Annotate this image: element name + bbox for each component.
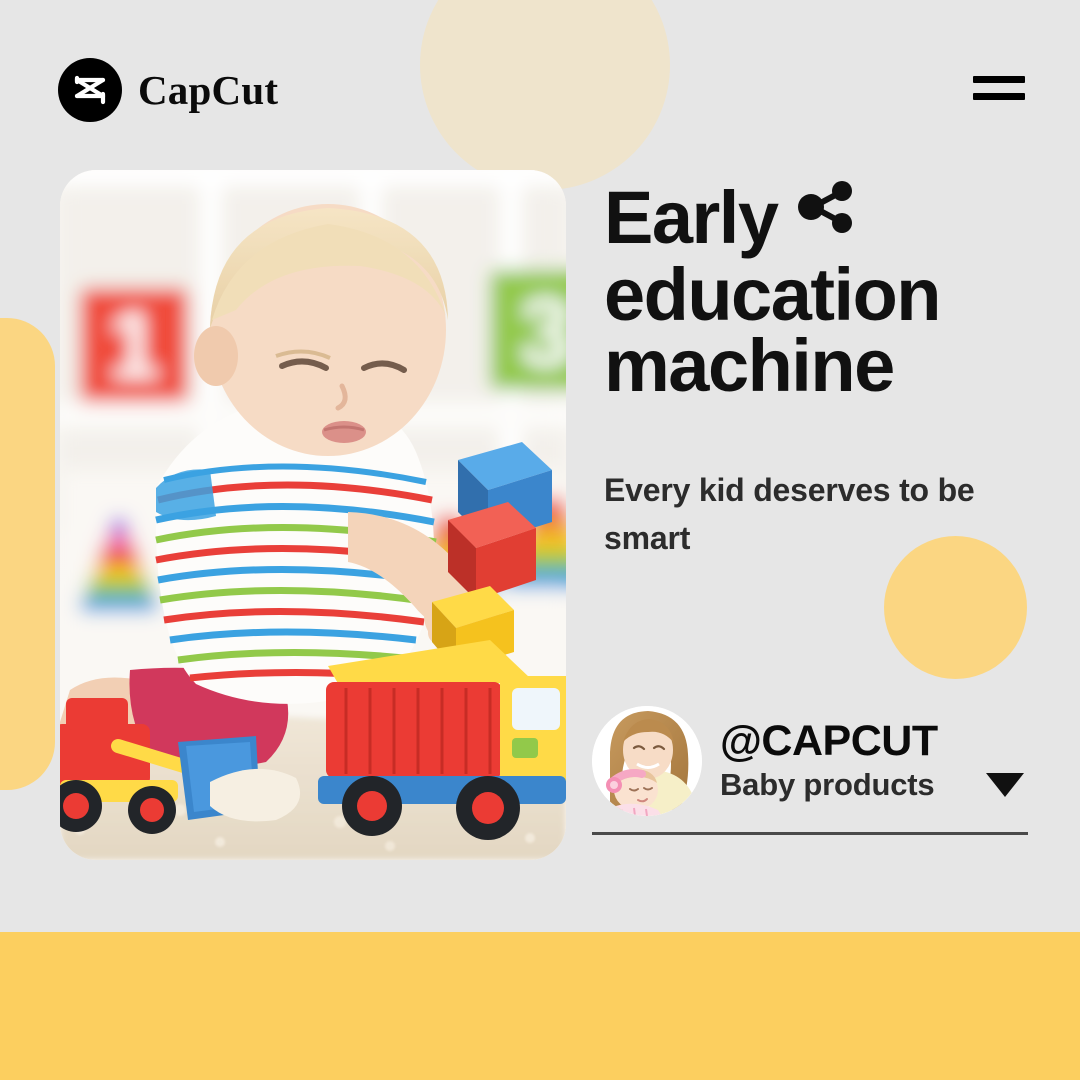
- page-title: Early education machine: [604, 182, 1044, 401]
- header: CapCut: [0, 0, 1080, 180]
- footer-bar: [0, 932, 1080, 1080]
- profile-category: Baby products: [720, 767, 934, 803]
- hamburger-bar: [973, 93, 1025, 100]
- profile-block: @CAPCUT Baby products: [592, 706, 1028, 835]
- hero-photo: 1 5 3: [60, 170, 566, 860]
- share-icon[interactable]: [794, 174, 858, 245]
- chevron-down-icon[interactable]: [986, 773, 1024, 797]
- hamburger-menu-icon[interactable]: [973, 76, 1025, 100]
- decorative-yellow-left-shape: [0, 318, 55, 790]
- headline-line-3: machine: [604, 324, 894, 407]
- capcut-logo-icon: [58, 58, 122, 122]
- avatar-mother-and-baby: [592, 706, 702, 816]
- brand-logo[interactable]: CapCut: [58, 58, 278, 122]
- hamburger-bar: [973, 76, 1025, 83]
- profile-row[interactable]: @CAPCUT Baby products: [592, 706, 1028, 816]
- poster-canvas: CapCut: [0, 0, 1080, 1080]
- headline-line-1: Early: [604, 176, 778, 259]
- divider: [592, 832, 1028, 835]
- profile-handle: @CAPCUT: [720, 719, 1028, 764]
- brand-name: CapCut: [138, 66, 278, 114]
- hero-subtitle: Every kid deserves to be smart: [604, 466, 1034, 562]
- profile-text: @CAPCUT Baby products: [720, 719, 1028, 802]
